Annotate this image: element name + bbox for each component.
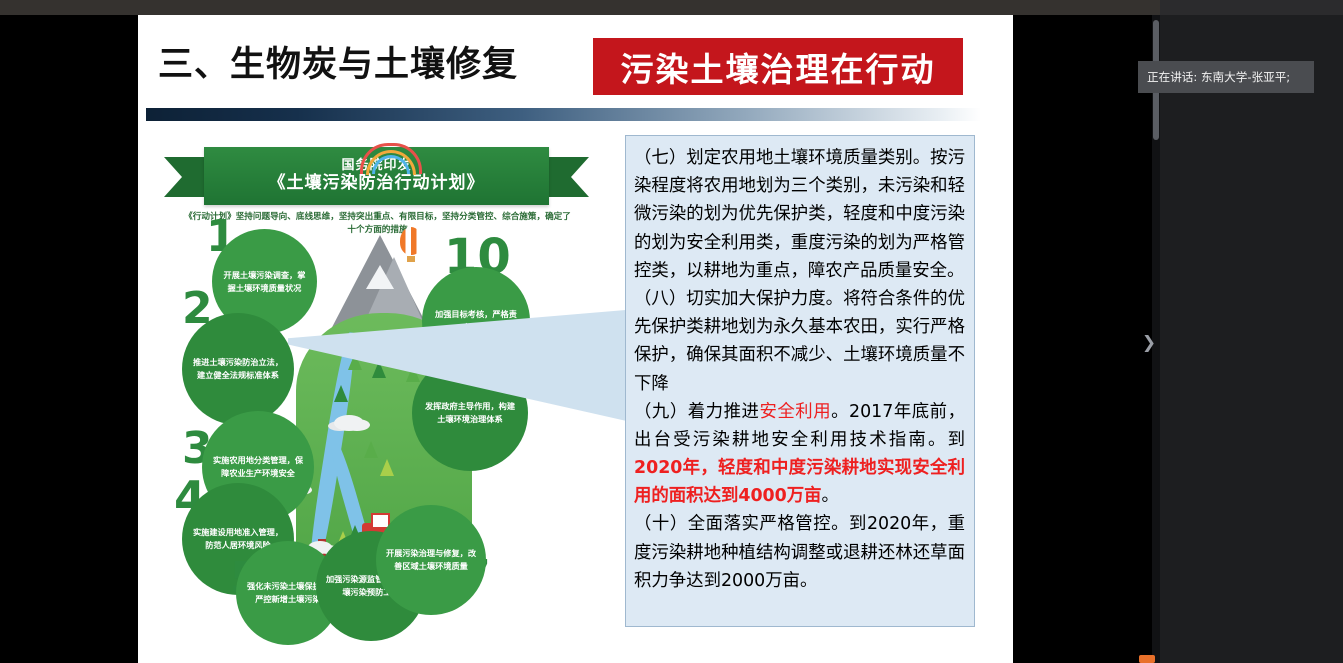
hot-air-balloon-icon: [400, 227, 422, 255]
active-speaker-label: 正在讲话: 东南大学-张亚平;: [1147, 69, 1290, 85]
snow-cap-icon: [366, 265, 394, 289]
infographic-bubble-9-text: 发挥政府主导作用，构建土壤环境治理体系: [412, 400, 528, 425]
taskbar-indicator: [1139, 655, 1155, 663]
ribbon-line-2: 《土壤污染防治行动计划》: [269, 173, 485, 194]
policy-p9-highlight-bold: 2020年，轻度和中度污染耕地实现安全利用的面积达到4000万亩: [634, 458, 965, 506]
active-speaker-banner: 正在讲话: 东南大学-张亚平;: [1138, 61, 1314, 93]
policy-paragraph-8: （八）切实加大保护力度。将符合条件的优先保护类耕地划为永久基本农田，实行严格保护…: [634, 285, 965, 398]
policy-paragraph-7: （七）划定农用地土壤环境质量类别。按污染程度将农用地划为三个类别，未污染和轻微污…: [634, 144, 965, 285]
tree-icon: [364, 441, 378, 458]
cloud-icon: [334, 415, 364, 431]
tree-icon: [334, 385, 348, 402]
slide-red-banner: 污染土壤治理在行动: [593, 38, 963, 95]
infographic-bubble-2: 推进土壤污染防治立法，建立健全法规标准体系: [182, 313, 294, 425]
policy-p9-highlight: 安全利用: [759, 402, 831, 422]
policy-p9-part-c: 。: [822, 486, 839, 506]
title-divider: [146, 108, 981, 121]
infographic-subtitle: 《行动计划》坚持问题导向、底线思维，坚持突出重点、有限目标，坚持分类管控、综合施…: [180, 211, 575, 238]
presentation-slide: 三、生物炭与土壤修复 污染土壤治理在行动 国务院印发 《土壤污染防治行动计划》 …: [138, 15, 1013, 663]
infographic-bubble-1-text: 开展土壤污染调查，掌握土壤环境质量状况: [212, 269, 317, 294]
window-titlebar-right: [1160, 0, 1343, 15]
screen-share-stage: 三、生物炭与土壤修复 污染土壤治理在行动 国务院印发 《土壤污染防治行动计划》 …: [0, 15, 1160, 663]
slide-red-banner-text: 污染土壤治理在行动: [621, 43, 936, 91]
infographic-bubble-7: 开展污染治理与修复，改善区域土壤环境质量: [376, 505, 486, 615]
policy-paragraph-10: （十）全面落实严格管控。到2020年，重度污染耕地种植结构调整或退耕还林还草面积…: [634, 510, 965, 595]
participant-sidebar: 黄加玲 18研王珍 李巧 陈杰: [1160, 15, 1343, 663]
tree-icon: [380, 459, 394, 476]
policy-paragraph-9: （九）着力推进安全利用。2017年底前，出台受污染耕地安全利用技术指南。到202…: [634, 398, 965, 511]
app-root: 三、生物炭与土壤修复 污染土壤治理在行动 国务院印发 《土壤污染防治行动计划》 …: [0, 0, 1343, 663]
window-titlebar: [0, 0, 1343, 15]
infographic-bubble-7-text: 开展污染治理与修复，改善区域土壤环境质量: [376, 547, 486, 572]
infographic-bubble-2-text: 推进土壤污染防治立法，建立健全法规标准体系: [182, 356, 294, 381]
balloon-basket-icon: [407, 256, 415, 262]
policy-text-panel: （七）划定农用地土壤环境质量类别。按污染程度将农用地划为三个类别，未污染和轻微污…: [625, 135, 975, 627]
page-title: 三、生物炭与土壤修复: [158, 36, 518, 87]
infographic-bubble-3-text: 实施农用地分类管理，保障农业生产环境安全: [202, 454, 314, 479]
chevron-right-icon[interactable]: ❯: [1139, 330, 1159, 356]
policy-p9-part-a: （九）着力推进: [634, 402, 759, 422]
